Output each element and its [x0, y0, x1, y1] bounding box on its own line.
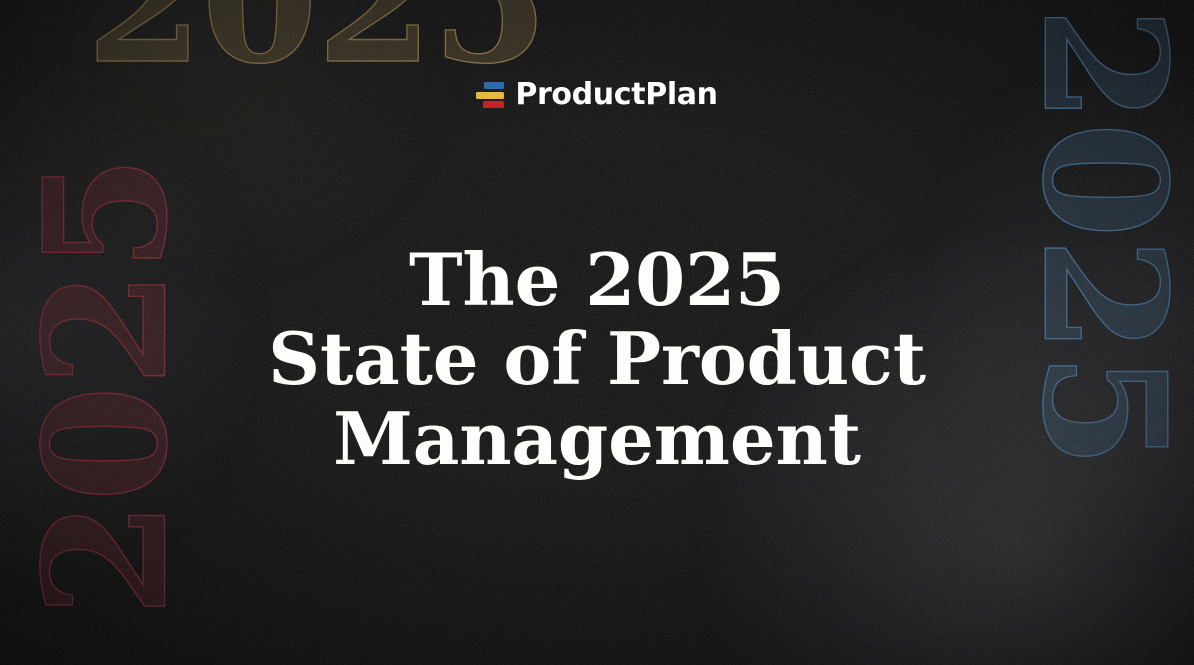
title-line-1: The 2025: [0, 240, 1194, 319]
title-line-2: State of Product: [0, 319, 1194, 398]
logo-wordmark: ProductPlan: [515, 80, 717, 110]
productplan-bars-logo-icon: [476, 80, 506, 110]
title-line-3: Management: [0, 399, 1194, 478]
title-slide: 2025 2025 2025 ProductPlan The 2025 Stat…: [0, 0, 1194, 665]
page-title: The 2025 State of Product Management: [0, 240, 1194, 478]
productplan-logo: ProductPlan: [0, 80, 1194, 110]
logo-bar-red: [483, 101, 504, 108]
logo-bar-blue: [484, 82, 504, 89]
logo-bar-gold: [476, 92, 504, 99]
